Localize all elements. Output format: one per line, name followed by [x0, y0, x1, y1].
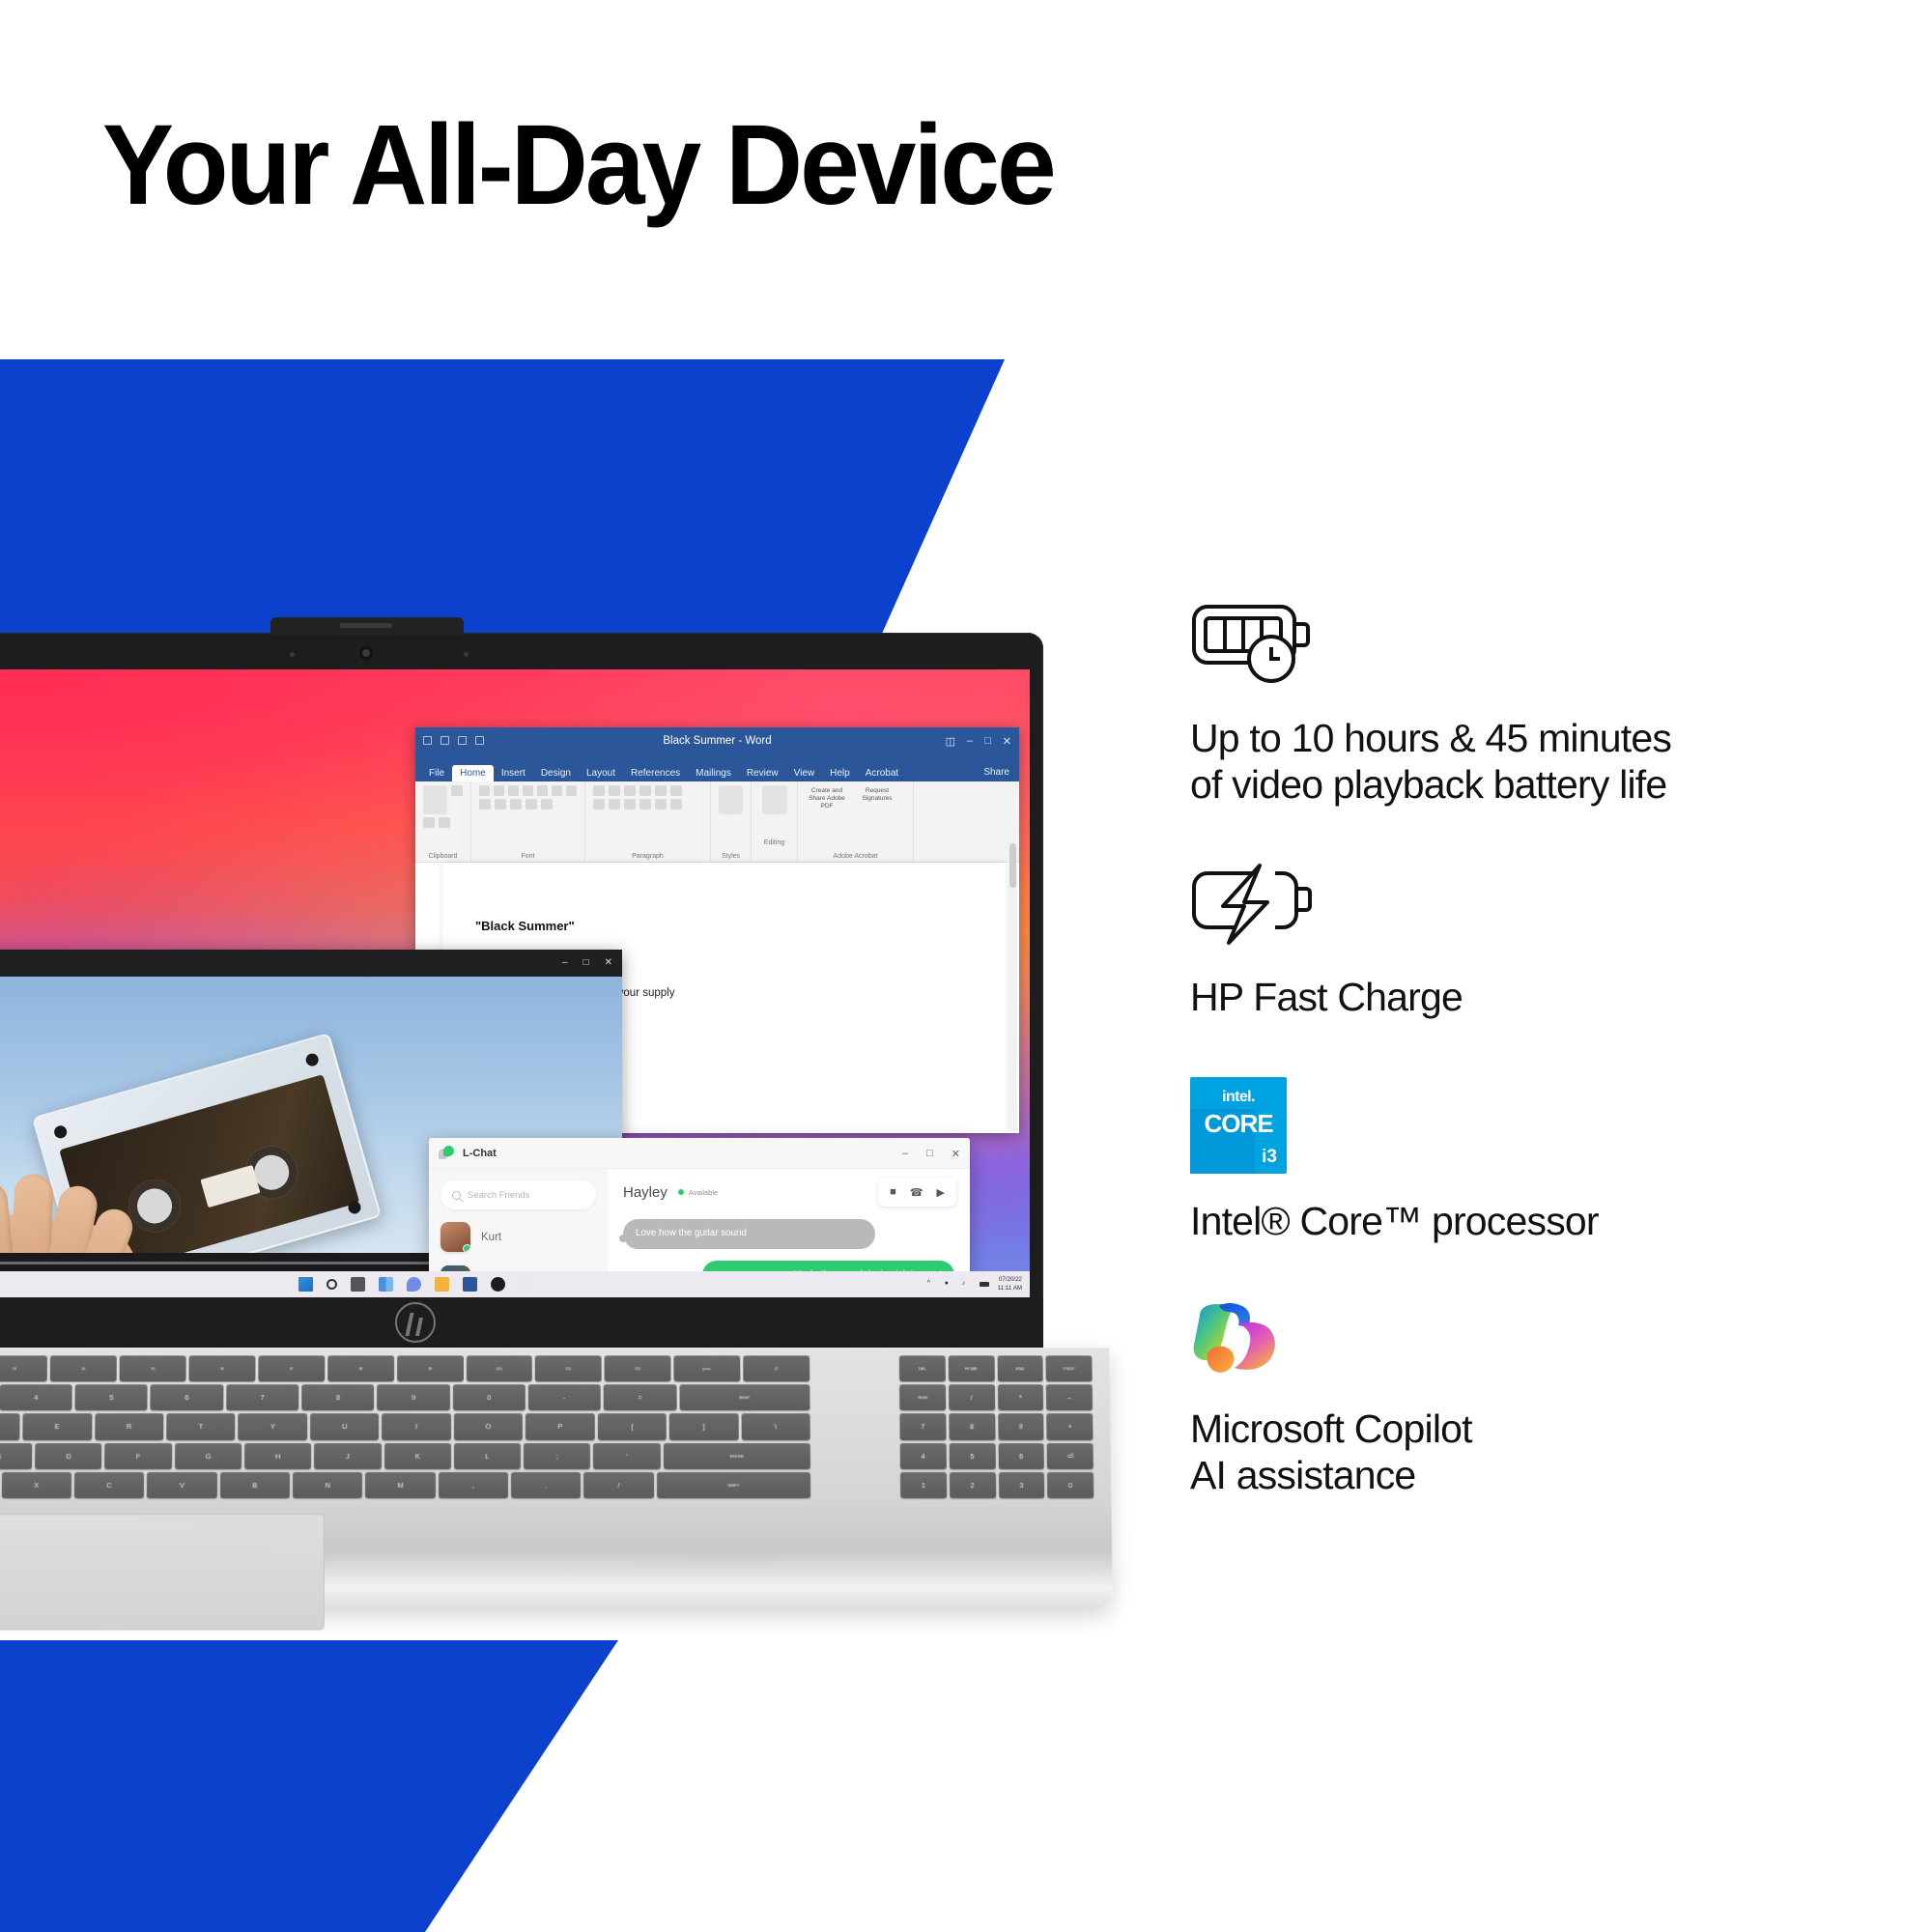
chevron-up-icon[interactable]: ^ — [927, 1280, 936, 1289]
laptop-product-image: Black Summer - Word ◫ – □ ✕ File Home In… — [0, 633, 1140, 1608]
key-d[interactable]: D — [35, 1443, 101, 1469]
key-f4[interactable]: f4 — [50, 1355, 117, 1381]
line-spacing-icon[interactable] — [655, 799, 667, 810]
cassette-screw — [53, 1124, 69, 1140]
key-numpad-1[interactable]: 1 — [900, 1472, 947, 1498]
key-8[interactable]: 8 — [301, 1384, 374, 1410]
key-enter[interactable]: ENTER — [663, 1443, 810, 1469]
group-label-acrobat: Adobe Acrobat — [798, 853, 913, 860]
key-f11[interactable]: f11 — [535, 1355, 602, 1381]
numpad-row[interactable]: 1 2 3 0 — [900, 1472, 1094, 1498]
feature-copilot: Microsoft Copilot AI assistance — [1190, 1300, 1866, 1498]
ribbon-group-styles[interactable]: Styles — [711, 781, 752, 862]
maximize-button[interactable]: □ — [926, 1148, 933, 1160]
highlight-icon[interactable] — [479, 799, 491, 810]
key-f5[interactable]: f5 — [120, 1355, 186, 1381]
task-view-icon[interactable] — [351, 1277, 365, 1292]
group-label-clipboard: Clipboard — [415, 853, 470, 860]
chat-bubble-incoming: Love how the guitar sound — [623, 1219, 875, 1249]
format-painter-icon[interactable] — [439, 817, 450, 828]
key-print-screen[interactable]: prtsc — [674, 1355, 741, 1381]
key-p[interactable]: P — [526, 1413, 594, 1439]
key-f10[interactable]: f10 — [467, 1355, 533, 1381]
justify-icon[interactable] — [639, 799, 651, 810]
page-title: Your All-Day Device — [102, 108, 1054, 222]
chat-app-title: L-Chat — [463, 1148, 497, 1159]
key-numpad-0[interactable]: 0 — [1047, 1472, 1094, 1498]
chat-icon[interactable] — [407, 1277, 421, 1292]
wifi-icon[interactable]: ● — [945, 1280, 953, 1289]
key-numpad-add[interactable]: + — [1046, 1413, 1093, 1439]
key-f9[interactable]: f9 — [397, 1355, 464, 1381]
key-numpad-4[interactable]: 4 — [900, 1443, 947, 1469]
bold-icon[interactable] — [479, 785, 490, 796]
document-heading: "Black Summer" — [475, 919, 973, 933]
copy-icon[interactable] — [423, 817, 435, 828]
key-u[interactable]: U — [310, 1413, 379, 1439]
strikethrough-icon[interactable] — [523, 785, 533, 796]
media-player-title-bar: Media Player – □ ✕ — [0, 950, 622, 977]
scrollbar-thumb[interactable] — [1009, 843, 1016, 888]
multilevel-list-icon[interactable] — [624, 785, 636, 796]
key-j[interactable]: J — [314, 1443, 381, 1469]
key-numpad-enter[interactable]: ⏎ — [1047, 1443, 1094, 1469]
laptop-lid: Black Summer - Word ◫ – □ ✕ File Home In… — [0, 633, 1043, 1314]
keyboard-row-numbers[interactable]: 1 2 3 4 5 6 7 8 9 0 - = BKSP — [0, 1384, 810, 1410]
key-home[interactable]: HOME — [948, 1355, 994, 1381]
key-s[interactable]: S — [0, 1443, 33, 1469]
key-i[interactable]: I — [382, 1413, 450, 1439]
online-status-dot — [463, 1244, 470, 1252]
keyboard-row-bottom[interactable]: Z X C V B N M , . / SHIFT — [0, 1472, 810, 1498]
font-color-icon[interactable] — [495, 799, 506, 810]
find-icon[interactable] — [762, 785, 787, 814]
media-player-window-controls[interactable]: – □ ✕ — [562, 957, 612, 968]
key-f6[interactable]: f6 — [189, 1355, 256, 1381]
key-w[interactable]: W — [0, 1413, 20, 1439]
key-bracket-left[interactable]: [ — [597, 1413, 666, 1439]
keyboard-row-home[interactable]: A S D F G H J K L ; ' ENTER — [0, 1443, 810, 1469]
file-explorer-icon[interactable] — [435, 1277, 449, 1292]
key-0[interactable]: 0 — [453, 1384, 526, 1410]
keyboard-row-qwerty[interactable]: Q W E R T Y U I O P [ ] \ — [0, 1413, 810, 1439]
tab-review[interactable]: Review — [739, 765, 786, 781]
increase-indent-icon[interactable] — [655, 785, 667, 796]
key-numpad-3[interactable]: 3 — [998, 1472, 1044, 1498]
key-g[interactable]: G — [175, 1443, 241, 1469]
key-x[interactable]: X — [1, 1472, 71, 1498]
key-e[interactable]: E — [22, 1413, 92, 1439]
ribbon-group-font[interactable]: Font — [471, 781, 585, 862]
key-9[interactable]: 9 — [377, 1384, 449, 1410]
key-c[interactable]: C — [74, 1472, 145, 1498]
key-b[interactable]: B — [220, 1472, 290, 1498]
intel-badge-tile: intel. CORE i3 — [1190, 1077, 1287, 1174]
feature-fast-charge: HP Fast Charge — [1190, 864, 1866, 1021]
key-shift-right[interactable]: SHIFT — [657, 1472, 810, 1498]
key-numpad-6[interactable]: 6 — [998, 1443, 1044, 1469]
numbering-icon[interactable] — [609, 785, 620, 796]
search-input[interactable]: Search Friends — [440, 1180, 596, 1209]
tab-design[interactable]: Design — [533, 765, 579, 781]
peer-name: Hayley — [623, 1184, 668, 1201]
key-7[interactable]: 7 — [226, 1384, 298, 1410]
subscript-icon[interactable] — [537, 785, 548, 796]
group-label-font: Font — [471, 853, 584, 860]
tab-references[interactable]: References — [623, 765, 688, 781]
close-button[interactable]: ✕ — [605, 957, 612, 968]
key-numpad-divide[interactable]: / — [949, 1384, 995, 1410]
align-center-icon[interactable] — [609, 799, 620, 810]
decrease-indent-icon[interactable] — [639, 785, 651, 796]
tab-home[interactable]: Home — [452, 765, 494, 781]
key-k[interactable]: K — [384, 1443, 451, 1469]
key-f8[interactable]: f8 — [327, 1355, 394, 1381]
conversation-actions[interactable]: ■ ☎ ▶ — [878, 1178, 956, 1207]
system-tray[interactable]: ^ ● ♪ 07/20/22 11:11 AM — [927, 1271, 1022, 1297]
key-equals[interactable]: = — [604, 1384, 676, 1410]
key-minus[interactable]: - — [528, 1384, 601, 1410]
avatar — [440, 1222, 470, 1252]
video-call-icon[interactable]: ▶ — [937, 1186, 945, 1199]
feature-text-line-1: Up to 10 hours & 45 minutes — [1190, 716, 1866, 762]
cut-icon[interactable] — [451, 785, 463, 796]
conversation-header: Hayley Available ■ ☎ ▶ — [608, 1169, 970, 1215]
feature-text-line-2: AI assistance — [1190, 1453, 1866, 1499]
webcam-icon — [359, 646, 373, 660]
microsoft-copilot-logo — [1190, 1300, 1285, 1381]
request-signatures-label: Request Signatures — [856, 787, 898, 803]
feature-text: HP Fast Charge — [1190, 975, 1866, 1021]
key-numpad-2[interactable]: 2 — [950, 1472, 996, 1498]
key-y[interactable]: Y — [239, 1413, 307, 1439]
underline-icon[interactable] — [508, 785, 519, 796]
tab-acrobat[interactable]: Acrobat — [858, 765, 906, 781]
word-scrollbar[interactable] — [1009, 841, 1017, 1131]
maximize-button[interactable]: □ — [583, 957, 589, 968]
tab-file[interactable]: File — [421, 765, 452, 781]
battery-icon[interactable] — [980, 1282, 989, 1287]
tab-layout[interactable]: Layout — [579, 765, 623, 781]
key-delete[interactable]: DEL — [899, 1355, 946, 1381]
group-label-styles: Styles — [711, 853, 751, 860]
minimize-button[interactable]: – — [562, 957, 568, 968]
numeric-keypad[interactable]: DEL HOME END PGUP NUM / * – 7 8 9 + — [899, 1355, 1094, 1498]
feature-text: Microsoft Copilot AI assistance — [1190, 1406, 1866, 1498]
key-page-up[interactable]: PGUP — [1046, 1355, 1093, 1381]
l-chat-icon[interactable] — [519, 1277, 533, 1292]
media-player-icon[interactable] — [491, 1277, 505, 1292]
status-label: Available — [689, 1188, 718, 1197]
maximize-button[interactable]: □ — [984, 735, 991, 748]
key-power[interactable]: ⏻ — [743, 1355, 810, 1381]
key-numpad-5[interactable]: 5 — [949, 1443, 995, 1469]
clock[interactable]: 07/20/22 11:11 AM — [998, 1276, 1022, 1293]
ribbon-group-paragraph[interactable]: Paragraph — [585, 781, 711, 862]
feature-text-line-1: HP Fast Charge — [1190, 975, 1866, 1021]
numpad-row[interactable]: NUM / * – — [899, 1384, 1093, 1410]
key-period[interactable]: . — [511, 1472, 581, 1498]
widgets-icon[interactable] — [379, 1277, 393, 1292]
key-o[interactable]: O — [454, 1413, 523, 1439]
key-l[interactable]: L — [454, 1443, 521, 1469]
cassette-label-window — [200, 1165, 260, 1207]
laptop-base: esc f1 f2 f3 f4 f5 f6 f7 f8 f9 f10 f11 f… — [0, 1348, 1113, 1608]
tray-date: 07/20/22 — [998, 1276, 1022, 1285]
intel-family-label: CORE — [1204, 1109, 1272, 1139]
key-4[interactable]: 4 — [0, 1384, 72, 1410]
word-ribbon[interactable]: Clipboard Font Paragraph — [415, 781, 1019, 863]
word-icon[interactable] — [463, 1277, 477, 1292]
phone-icon[interactable]: ☎ — [910, 1186, 923, 1199]
superscript-icon[interactable] — [552, 785, 562, 796]
minimize-button[interactable]: – — [967, 735, 973, 748]
styles-gallery-icon[interactable] — [719, 785, 743, 814]
volume-icon[interactable]: ♪ — [962, 1280, 971, 1289]
key-n[interactable]: N — [293, 1472, 362, 1498]
windows-taskbar[interactable]: ^ ● ♪ 07/20/22 11:11 AM — [0, 1271, 1030, 1297]
key-end[interactable]: END — [997, 1355, 1043, 1381]
key-bracket-right[interactable]: ] — [669, 1413, 739, 1439]
key-numpad-8[interactable]: 8 — [949, 1413, 995, 1439]
create-share-pdf-label: Create and Share Adobe PDF — [806, 787, 848, 810]
key-comma[interactable]: , — [439, 1472, 508, 1498]
group-label-paragraph: Paragraph — [585, 853, 710, 860]
numpad-row[interactable]: DEL HOME END PGUP — [899, 1355, 1093, 1381]
feature-battery-life: Up to 10 hours & 45 minutes of video pla… — [1190, 597, 1866, 808]
word-ribbon-tabs[interactable]: File Home Insert Design Layout Reference… — [415, 758, 1019, 781]
shrink-font-icon[interactable] — [541, 799, 553, 810]
intel-tier-label: i3 — [1262, 1147, 1277, 1168]
key-f7[interactable]: f7 — [258, 1355, 325, 1381]
numpad-row[interactable]: 7 8 9 + — [899, 1413, 1093, 1439]
share-button[interactable]: Share — [983, 767, 1009, 778]
key-num-lock[interactable]: NUM — [899, 1384, 946, 1410]
hp-logo — [395, 1302, 436, 1343]
feature-list: Up to 10 hours & 45 minutes of video pla… — [1190, 597, 1866, 1554]
key-f3[interactable]: f3 — [0, 1355, 47, 1381]
key-r[interactable]: R — [95, 1413, 164, 1439]
contact-name: Kurt — [481, 1232, 501, 1243]
webcam-bump — [270, 617, 464, 635]
word-window-controls[interactable]: ◫ – □ ✕ — [946, 735, 1011, 748]
feature-text-line-1: Microsoft Copilot — [1190, 1406, 1866, 1453]
minimize-button[interactable]: – — [902, 1148, 908, 1160]
key-quote[interactable]: ' — [593, 1443, 660, 1469]
battery-clock-icon — [1190, 597, 1866, 691]
key-v[interactable]: V — [147, 1472, 217, 1498]
intel-brand-label: intel. — [1222, 1089, 1255, 1106]
battery-bolt-icon — [1190, 864, 1866, 950]
numpad-row[interactable]: 4 5 6 ⏎ — [900, 1443, 1094, 1469]
grow-font-icon[interactable] — [526, 799, 537, 810]
key-numpad-7[interactable]: 7 — [899, 1413, 946, 1439]
l-chat-icon — [439, 1146, 454, 1161]
status-badge: Available — [678, 1188, 718, 1197]
feature-intel-processor: intel. CORE i3 Intel® Core™ processor — [1190, 1077, 1866, 1245]
clear-format-icon[interactable] — [510, 799, 522, 810]
keyboard-row-function[interactable]: esc f1 f2 f3 f4 f5 f6 f7 f8 f9 f10 f11 f… — [0, 1355, 810, 1381]
chat-window-controls[interactable]: – □ ✕ — [902, 1148, 960, 1160]
key-backslash[interactable]: \ — [741, 1413, 810, 1439]
feature-text: Up to 10 hours & 45 minutes of video pla… — [1190, 716, 1866, 808]
key-semicolon[interactable]: ; — [524, 1443, 590, 1469]
tray-time: 11:11 AM — [998, 1285, 1022, 1293]
tab-mailings[interactable]: Mailings — [688, 765, 739, 781]
poster-canvas: Your All-Day Device — [0, 0, 1932, 1932]
ribbon-group-clipboard[interactable]: Clipboard — [415, 781, 471, 862]
ribbon-group-acrobat[interactable]: Create and Share Adobe PDF Request Signa… — [798, 781, 914, 862]
key-slash[interactable]: / — [583, 1472, 653, 1498]
touchpad[interactable] — [0, 1514, 325, 1630]
close-button[interactable]: ✕ — [952, 1148, 960, 1160]
shading-icon[interactable] — [670, 799, 682, 810]
list-item[interactable]: Kurt — [429, 1215, 608, 1259]
cassette-screw — [347, 1200, 362, 1215]
word-document-title: Black Summer - Word — [415, 735, 1019, 747]
key-h[interactable]: H — [244, 1443, 311, 1469]
mic-hole-left — [290, 652, 295, 657]
feature-text: Intel® Core™ processor — [1190, 1199, 1866, 1245]
bullets-icon[interactable] — [593, 785, 605, 796]
ribbon-display-icon[interactable]: ◫ — [946, 735, 955, 748]
video-archive-icon[interactable]: ■ — [890, 1186, 896, 1198]
search-icon[interactable] — [327, 1279, 337, 1290]
key-numpad-multiply[interactable]: * — [997, 1384, 1043, 1410]
start-icon[interactable] — [298, 1277, 313, 1292]
tab-view[interactable]: View — [786, 765, 823, 781]
intel-core-i3-badge: intel. CORE i3 — [1190, 1077, 1866, 1174]
key-backspace[interactable]: BKSP — [679, 1384, 810, 1410]
italic-icon[interactable] — [494, 785, 504, 796]
align-left-icon[interactable] — [593, 799, 605, 810]
key-numpad-9[interactable]: 9 — [998, 1413, 1044, 1439]
key-6[interactable]: 6 — [151, 1384, 223, 1410]
status-dot — [678, 1189, 684, 1195]
feature-text-line-2: of video playback battery life — [1190, 762, 1866, 809]
paste-icon[interactable] — [423, 785, 447, 814]
feature-text-line-1: Intel® Core™ processor — [1190, 1199, 1866, 1245]
editing-button-label: Editing — [752, 839, 797, 846]
chat-title-bar: L-Chat – □ ✕ — [429, 1138, 970, 1169]
key-m[interactable]: M — [365, 1472, 435, 1498]
key-t[interactable]: T — [166, 1413, 236, 1439]
laptop-bottom-bezel — [0, 1297, 1043, 1348]
key-5[interactable]: 5 — [75, 1384, 148, 1410]
mic-hole-right — [464, 652, 469, 657]
tab-help[interactable]: Help — [822, 765, 858, 781]
ribbon-group-editing[interactable]: Editing — [752, 781, 798, 862]
search-placeholder: Search Friends — [468, 1190, 529, 1201]
align-right-icon[interactable] — [624, 799, 636, 810]
blue-shape-bottom — [0, 1640, 966, 1932]
keyboard[interactable]: esc f1 f2 f3 f4 f5 f6 f7 f8 f9 f10 f11 f… — [0, 1355, 810, 1498]
key-f[interactable]: F — [105, 1443, 172, 1469]
sort-icon[interactable] — [670, 785, 682, 796]
close-button[interactable]: ✕ — [1003, 735, 1011, 748]
key-numpad-subtract[interactable]: – — [1046, 1384, 1093, 1410]
word-title-bar: Black Summer - Word ◫ – □ ✕ — [415, 727, 1019, 758]
text-effects-icon[interactable] — [566, 785, 577, 796]
tab-insert[interactable]: Insert — [494, 765, 533, 781]
key-f12[interactable]: f12 — [605, 1355, 671, 1381]
cassette-screw — [304, 1052, 320, 1067]
laptop-screen: Black Summer - Word ◫ – □ ✕ File Home In… — [0, 669, 1030, 1297]
search-icon — [452, 1191, 461, 1200]
